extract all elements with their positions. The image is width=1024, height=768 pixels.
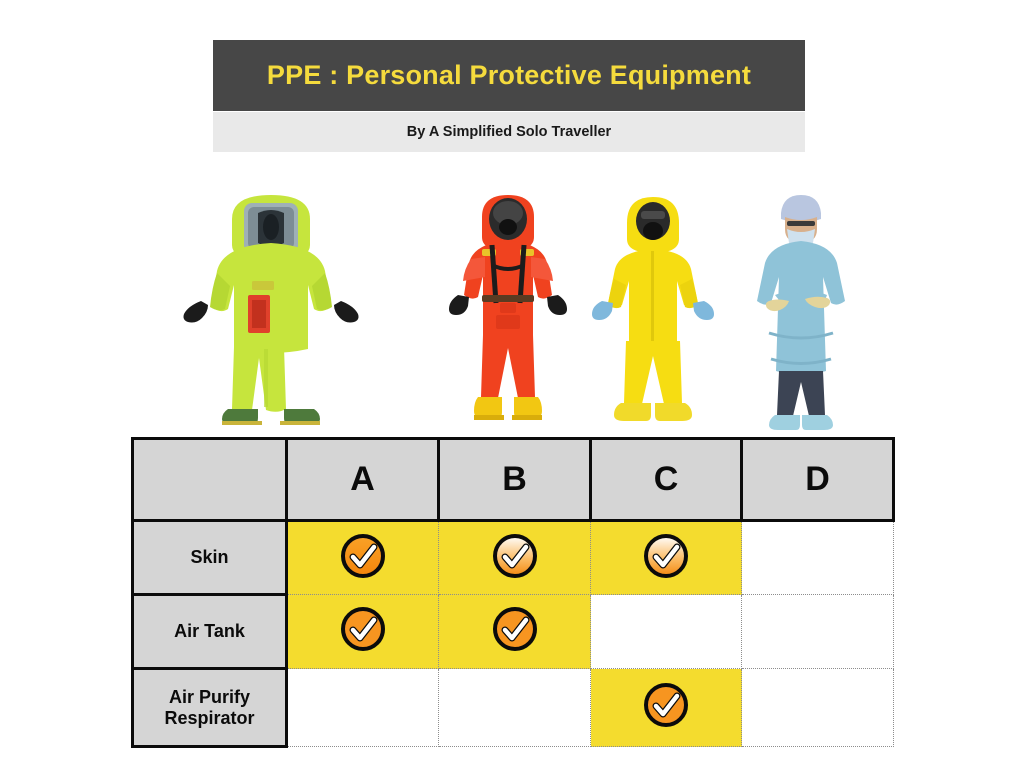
check-circle-icon bbox=[339, 605, 387, 658]
column-header-d: D bbox=[742, 439, 894, 521]
figure-level-b bbox=[438, 183, 578, 433]
title-bar: PPE : Personal Protective Equipment bbox=[213, 40, 805, 111]
cell-respirator-b bbox=[439, 669, 591, 747]
yellow-coverall-figure bbox=[586, 183, 721, 433]
check-circle-icon bbox=[491, 605, 539, 658]
ppe-figure-strip bbox=[131, 178, 892, 433]
page-title: PPE : Personal Protective Equipment bbox=[267, 60, 751, 91]
cell-respirator-d bbox=[742, 669, 894, 747]
table-row: Air Purify Respirator bbox=[133, 669, 894, 747]
cell-skin-d bbox=[742, 521, 894, 595]
surgical-gown-figure bbox=[731, 183, 871, 433]
cell-skin-b bbox=[439, 521, 591, 595]
cell-skin-a bbox=[287, 521, 439, 595]
cell-air-tank-b bbox=[439, 595, 591, 669]
row-label: Air Tank bbox=[174, 621, 245, 641]
cell-air-tank-d bbox=[742, 595, 894, 669]
cell-skin-c bbox=[591, 521, 742, 595]
column-header-b: B bbox=[439, 439, 591, 521]
check-circle-icon bbox=[339, 532, 387, 585]
check-circle-icon bbox=[642, 681, 690, 734]
check-circle-icon bbox=[642, 532, 690, 585]
figure-level-a bbox=[176, 183, 366, 433]
fully-encapsulated-suit-figure bbox=[176, 183, 366, 433]
table-row: Skin bbox=[133, 521, 894, 595]
ppe-comparison-table: A B C D Skin bbox=[131, 437, 895, 748]
row-header-air-tank: Air Tank bbox=[133, 595, 287, 669]
table-header-row: A B C D bbox=[133, 439, 894, 521]
cell-respirator-a bbox=[287, 669, 439, 747]
table-row: Air Tank bbox=[133, 595, 894, 669]
row-label-line-2: Respirator bbox=[164, 708, 254, 728]
figure-level-c bbox=[586, 183, 721, 433]
red-chemical-suit-figure bbox=[438, 183, 578, 433]
subtitle-bar: By A Simplified Solo Traveller bbox=[213, 112, 805, 152]
ppe-slide: PPE : Personal Protective Equipment By A… bbox=[0, 0, 1024, 768]
cell-air-tank-a bbox=[287, 595, 439, 669]
cell-respirator-c bbox=[591, 669, 742, 747]
subtitle-text: By A Simplified Solo Traveller bbox=[407, 124, 611, 140]
cell-air-tank-c bbox=[591, 595, 742, 669]
check-circle-icon bbox=[491, 532, 539, 585]
figure-level-d bbox=[731, 183, 871, 433]
row-header-air-purify-respirator: Air Purify Respirator bbox=[133, 669, 287, 747]
column-header-a: A bbox=[287, 439, 439, 521]
table-corner-cell bbox=[133, 439, 287, 521]
row-label: Skin bbox=[190, 547, 228, 567]
row-label-line-1: Air Purify bbox=[169, 687, 250, 707]
row-header-skin: Skin bbox=[133, 521, 287, 595]
column-header-c: C bbox=[591, 439, 742, 521]
